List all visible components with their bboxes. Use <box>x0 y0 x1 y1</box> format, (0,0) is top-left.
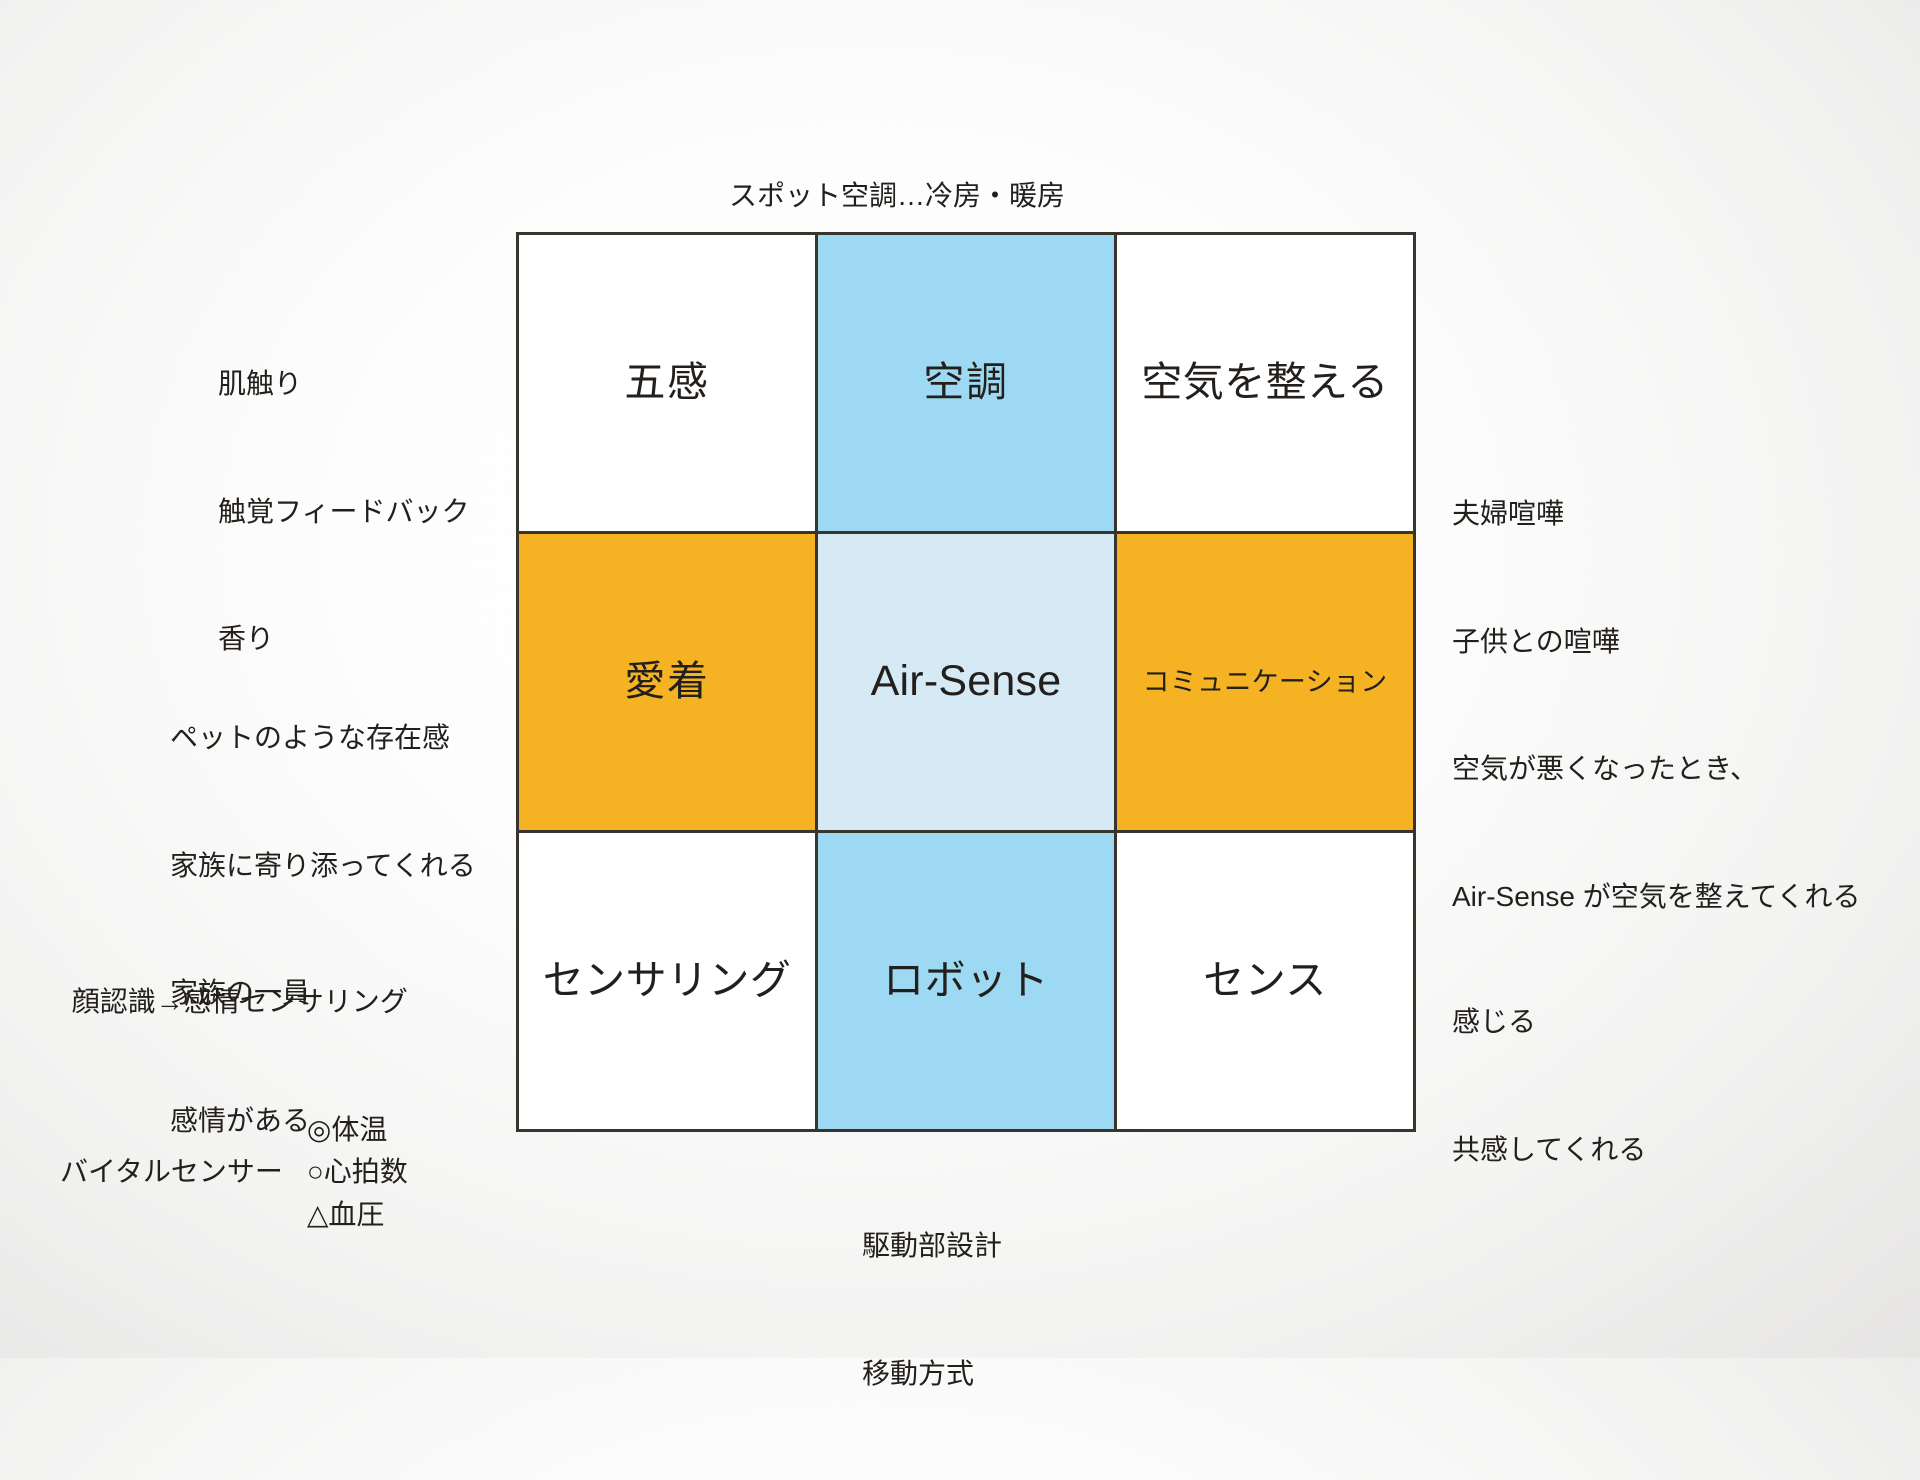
annotation-top-line-1: スポット空調…冷房・暖房 <box>729 175 1297 218</box>
annotation-right-sense: 感じる 共感してくれる <box>1452 916 1646 1256</box>
vital-sensor-item-3: △血圧 <box>307 1194 408 1237</box>
annotation-right-sense-line-1: 感じる <box>1452 1001 1646 1044</box>
concept-matrix: 五感 空調 空気を整える 愛着 Air-Sense コミュニケーション センサリ… <box>516 232 1416 1132</box>
matrix-cell-aichaku-label: 愛着 <box>624 657 709 706</box>
matrix-cell-sensing-label: センサリング <box>543 956 791 1005</box>
annotation-left-senses-line-1: 肌触り <box>218 363 469 406</box>
vital-sensor-item-2: ○心拍数 <box>307 1151 408 1194</box>
annotation-bottom-robot: 駆動部設計 移動方式 <box>862 1140 1002 1480</box>
annotation-bottom-line-2: 移動方式 <box>862 1353 1002 1396</box>
annotation-left-attachment-line-2: 家族に寄り添ってくれる <box>170 845 476 888</box>
matrix-cell-air-arrange[interactable]: 空気を整える <box>1117 235 1413 531</box>
matrix-cell-communication[interactable]: コミュニケーション <box>1117 534 1413 830</box>
matrix-cell-air-sense-label: Air-Sense <box>871 656 1062 708</box>
vital-sensor-group: ◎体温 バイタルセンサー ○心拍数 △血圧 <box>60 1109 408 1237</box>
annotation-left-attachment-line-1: ペットのような存在感 <box>170 717 476 760</box>
matrix-cell-sensing[interactable]: センサリング <box>519 833 815 1129</box>
matrix-cell-sense[interactable]: センス <box>1117 833 1413 1129</box>
matrix-cell-air-arrange-label: 空気を整える <box>1141 358 1388 407</box>
matrix-cell-kuchou-label: 空調 <box>923 358 1008 407</box>
annotation-left-sensing: 顔認識→感情センサリング ◎体温 バイタルセンサー ○心拍数 △血圧 <box>60 896 408 1321</box>
annotation-right-communication-line-1: 夫婦喧嘩 <box>1452 493 1860 536</box>
vital-sensor-label: バイタルセンサー <box>60 1151 283 1194</box>
matrix-cell-gokan-label: 五感 <box>624 358 709 407</box>
annotation-bottom-line-1: 駆動部設計 <box>862 1225 1002 1268</box>
matrix-cell-communication-label: コミュニケーション <box>1143 666 1388 698</box>
annotation-left-senses-line-2: 触覚フィードバック <box>218 491 469 534</box>
matrix-cell-gokan[interactable]: 五感 <box>519 235 815 531</box>
matrix-cell-air-sense[interactable]: Air-Sense <box>818 534 1114 830</box>
matrix-cell-kuchou[interactable]: 空調 <box>818 235 1114 531</box>
annotation-right-communication-line-4: Air-Sense が空気を整えてくれる <box>1452 876 1860 919</box>
matrix-cell-robot[interactable]: ロボット <box>818 833 1114 1129</box>
vital-sensor-item-1: ◎体温 <box>307 1109 408 1152</box>
annotation-right-communication-line-3: 空気が悪くなったとき、 <box>1452 748 1860 791</box>
annotation-right-sense-line-2: 共感してくれる <box>1452 1129 1646 1172</box>
annotation-left-sensing-head: 顔認識→感情センサリング <box>60 981 408 1024</box>
diagram-canvas: スポット空調…冷房・暖房 適温調整…ヒエピタ・ホッカイロのような … 肌触り 触… <box>0 0 1920 1358</box>
matrix-cell-robot-label: ロボット <box>883 956 1049 1005</box>
annotation-right-communication: 夫婦喧嘩 子供との喧嘩 空気が悪くなったとき、 Air-Sense が空気を整え… <box>1452 408 1860 1004</box>
annotation-right-communication-line-2: 子供との喧嘩 <box>1452 621 1860 664</box>
matrix-cell-sense-label: センス <box>1203 956 1326 1005</box>
matrix-cell-aichaku[interactable]: 愛着 <box>519 534 815 830</box>
